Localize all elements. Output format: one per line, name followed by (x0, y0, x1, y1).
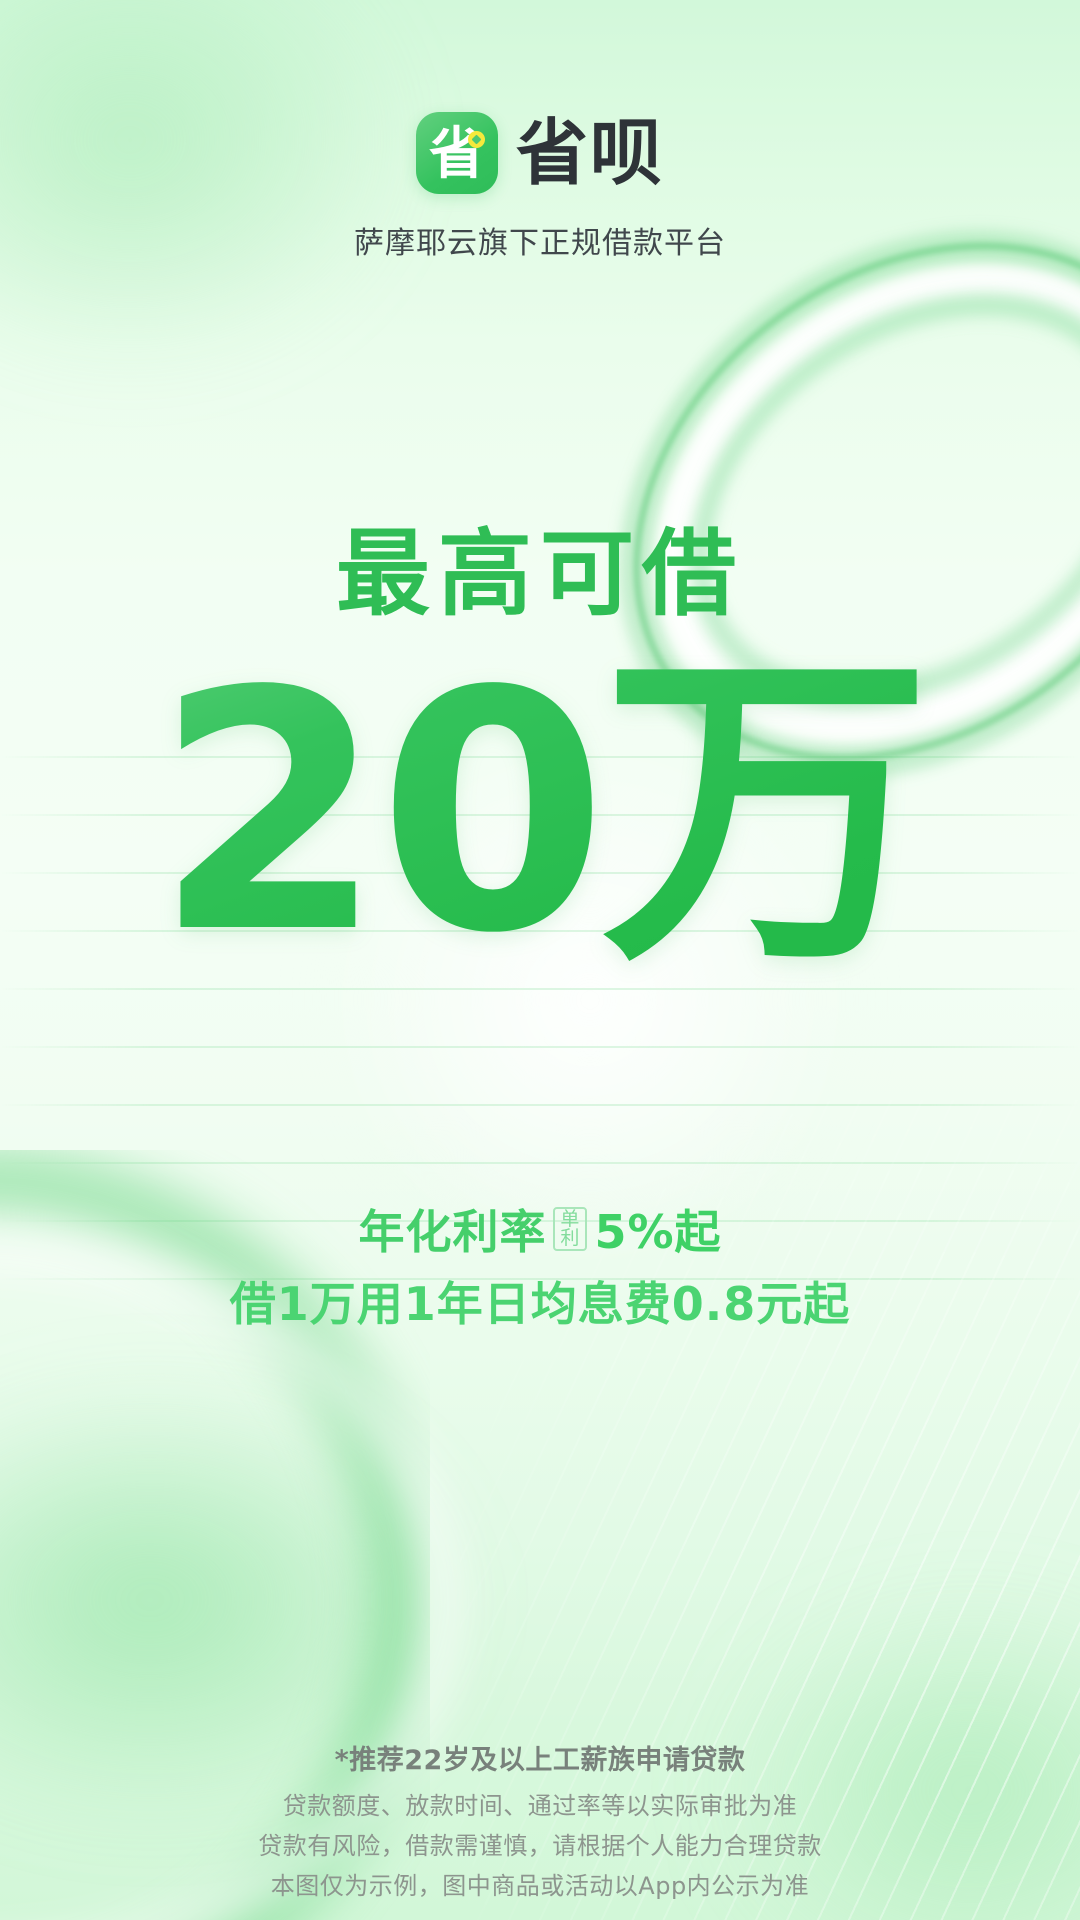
eligibility-footnote: *推荐22岁及以上工薪族申请贷款 (0, 1738, 1080, 1777)
promo-poster: 省 省呗 萨摩耶云旗下正规借款平台 最高可借 20万 年化利率 单 利 5%起 … (0, 0, 1080, 1920)
disclaimer-block: 贷款额度、放款时间、通过率等以实际审批为准 贷款有风险，借款需谨慎，请根据个人能… (0, 1786, 1080, 1906)
badge-line-2: 利 (560, 1229, 580, 1248)
disclaimer-line: 本图仅为示例，图中商品或活动以App内公示为准 (0, 1866, 1080, 1906)
disclaimer-line: 贷款额度、放款时间、通过率等以实际审批为准 (0, 1786, 1080, 1826)
annual-rate-value: 5%起 (594, 1196, 721, 1262)
app-logo-icon: 省 (416, 112, 498, 194)
diamond-accent-icon (468, 131, 485, 148)
annual-rate-prefix: 年化利率 (358, 1196, 546, 1262)
brand-lockup: 省 省呗 (0, 112, 1080, 194)
brand-subtitle: 萨摩耶云旗下正规借款平台 (0, 218, 1080, 262)
simple-interest-badge: 单 利 (553, 1207, 587, 1251)
disclaimer-line: 贷款有风险，借款需谨慎，请根据个人能力合理贷款 (0, 1826, 1080, 1866)
hero-amount: 20万 (0, 648, 1080, 978)
poster-content: 省 省呗 萨摩耶云旗下正规借款平台 最高可借 20万 年化利率 单 利 5%起 … (0, 0, 1080, 1920)
brand-name: 省呗 (516, 117, 664, 189)
daily-interest-line: 借1万用1年日均息费0.8元起 (0, 1268, 1080, 1334)
hero-headline: 最高可借 (0, 528, 1080, 622)
annual-rate-line: 年化利率 单 利 5%起 (0, 1196, 1080, 1262)
